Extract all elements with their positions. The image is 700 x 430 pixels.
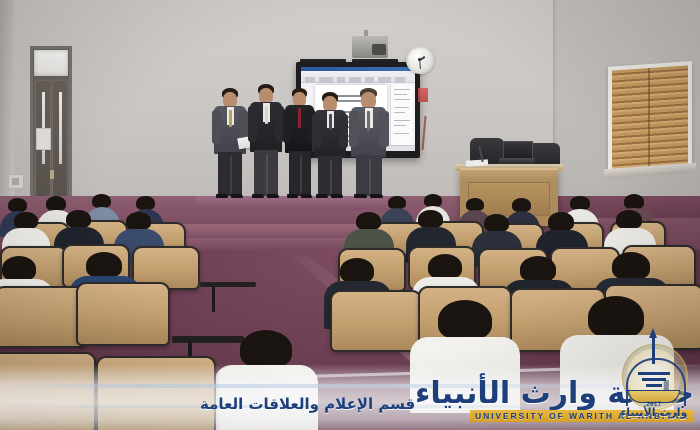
door-glass-right: [59, 92, 62, 164]
emblem-arabic-label: وارث الأنبياء: [616, 406, 692, 419]
seat-leg: [212, 286, 215, 312]
door-handle: [50, 170, 54, 179]
door-notice-paper: [36, 128, 51, 150]
desk-papers: [466, 159, 488, 166]
emblem-bar-3: [646, 384, 662, 387]
word-sidebar-panel: [390, 85, 413, 149]
auditorium-seat: [76, 282, 170, 346]
clock-center-dot: [418, 58, 421, 61]
projector-lens-icon: [372, 44, 386, 55]
wall-socket: [8, 174, 24, 189]
stage-riser: [196, 196, 396, 210]
word-toolbar: [301, 71, 415, 83]
emblem-bar-1: [638, 372, 670, 375]
wall-poster: [418, 88, 428, 102]
window-blind-split: [648, 68, 650, 166]
seat-base: [200, 282, 256, 287]
auditorium-seat: [0, 352, 96, 430]
seat-base: [172, 336, 244, 343]
wall-clock: [406, 46, 434, 74]
emblem-bar-2: [642, 378, 666, 381]
university-emblem-icon: 2017 وارث الأنبياء: [616, 328, 692, 420]
door-transom-window: [34, 50, 68, 76]
laptop-screen: [503, 141, 533, 159]
watermark-department-label: قسم الإعلام والعلاقات العامة: [200, 395, 415, 413]
auditorium-seat: [330, 290, 422, 352]
laptop-keyboard: [499, 158, 535, 164]
blinds-window: [608, 61, 692, 173]
photo-canvas: قسم الإعلام والعلاقات العامة جامعة وارث …: [0, 0, 700, 430]
auditorium-seat: [0, 286, 86, 348]
emblem-spire-icon: [652, 334, 655, 364]
watermark-brand-lockup: جامعة وارث الأنبياء UNIVERSITY OF WARITH…: [415, 378, 694, 424]
auditorium-seat: [96, 356, 216, 430]
clock-minute-hand: [419, 60, 421, 69]
